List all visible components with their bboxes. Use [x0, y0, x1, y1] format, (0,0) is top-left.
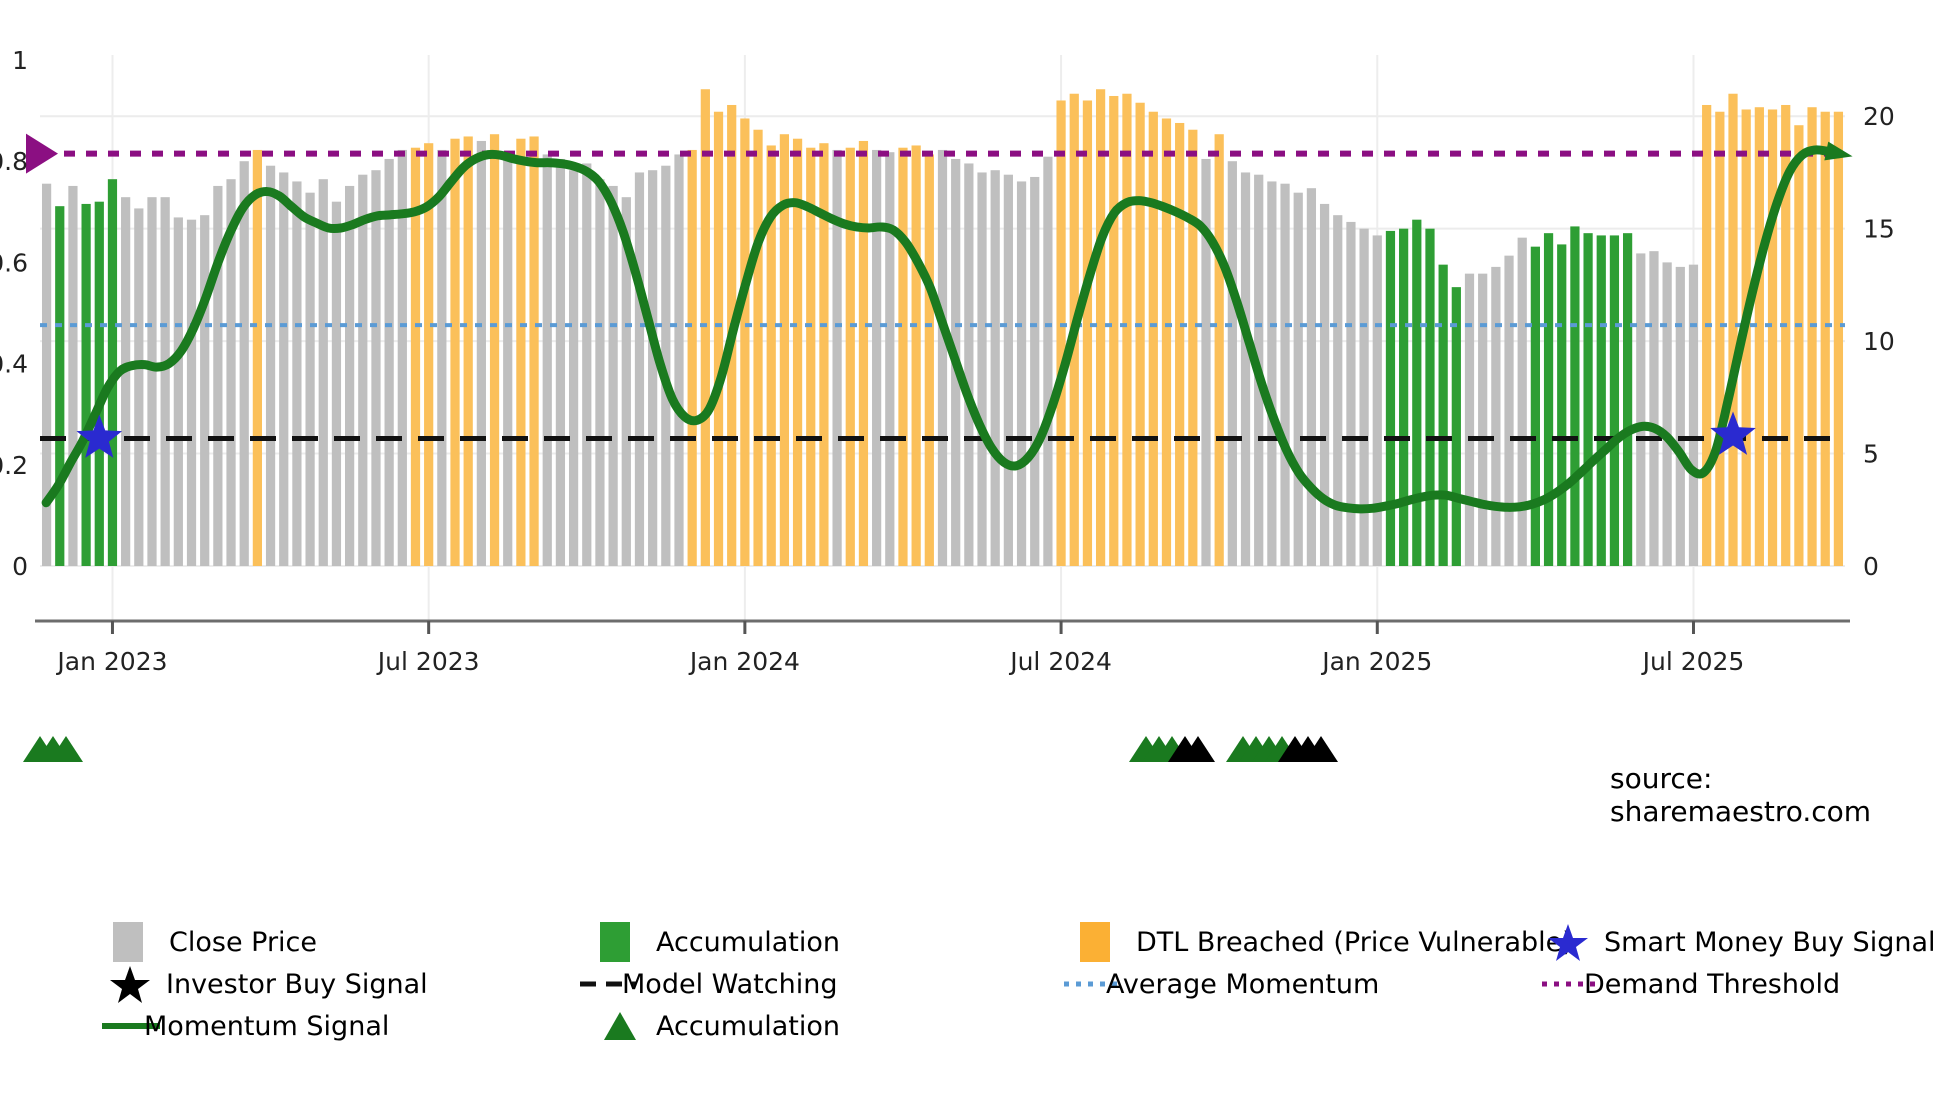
price-bar — [240, 161, 249, 566]
price-bar — [95, 202, 104, 566]
price-bar — [319, 179, 328, 566]
price-bar — [1623, 233, 1632, 566]
x-axis-tick: Jul 2024 — [1008, 647, 1112, 676]
price-bar — [1834, 112, 1843, 566]
price-bar — [977, 172, 986, 566]
legend-item-close-price[interactable]: Close Price — [113, 920, 317, 964]
price-bar — [147, 197, 156, 566]
price-bar — [1821, 112, 1830, 566]
price-bar — [1557, 244, 1566, 566]
price-bar — [253, 150, 262, 566]
price-bar — [385, 159, 394, 566]
legend-item-average-momentum[interactable]: Average Momentum — [1062, 962, 1379, 1006]
price-bar — [872, 150, 881, 566]
momentum-signal-line-icon — [100, 1004, 134, 1048]
price-bar — [582, 163, 591, 566]
price-bar — [1004, 175, 1013, 566]
source-attribution: source: sharemaestro.com — [1610, 762, 1960, 828]
price-bar — [1478, 274, 1487, 566]
legend-label-close-price: Close Price — [169, 927, 317, 958]
price-bar — [1610, 235, 1619, 566]
legend-label-smart-money-buy: Smart Money Buy Signal — [1604, 927, 1936, 958]
y-axis-left-tick: 1 — [12, 46, 28, 75]
price-bar — [1465, 274, 1474, 566]
price-bar — [859, 141, 868, 566]
price-bar — [1030, 177, 1039, 566]
price-bar — [1056, 100, 1065, 566]
price-bar — [332, 202, 341, 566]
price-bar — [1491, 267, 1500, 566]
legend-item-accumulation-bar[interactable]: Accumulation — [600, 920, 840, 964]
price-bar — [1320, 204, 1329, 566]
price-bar — [1201, 159, 1210, 566]
price-bar — [68, 186, 77, 566]
price-bar — [1241, 172, 1250, 566]
y-axis-right-tick: 15 — [1863, 215, 1895, 244]
legend-label-demand-threshold: Demand Threshold — [1584, 969, 1840, 1000]
price-bar — [516, 139, 525, 566]
price-bar — [174, 217, 183, 566]
price-bar — [1294, 193, 1303, 566]
price-bar — [1359, 229, 1368, 566]
investor-buy-star-icon — [110, 962, 144, 1006]
price-bar — [885, 152, 894, 566]
price-bar — [543, 154, 552, 566]
price-bar — [1807, 107, 1816, 566]
price-bar — [345, 186, 354, 566]
price-bar — [938, 150, 947, 566]
price-bar — [1636, 253, 1645, 566]
x-axis-tick: Jan 2025 — [1320, 647, 1432, 676]
price-bar — [635, 172, 644, 566]
price-bar — [569, 170, 578, 566]
accumulation-triangle-markers — [23, 736, 1338, 762]
price-bar — [898, 148, 907, 566]
price-bar — [701, 89, 710, 566]
x-axis-tick: Jan 2023 — [55, 647, 167, 676]
price-bar — [1768, 109, 1777, 566]
price-bar — [1702, 105, 1711, 566]
price-bar — [1373, 235, 1382, 566]
accumulation-swatch-icon — [600, 920, 634, 964]
price-bar — [1043, 157, 1052, 566]
price-bar — [1346, 222, 1355, 566]
price-bar — [832, 150, 841, 566]
price-bar — [450, 139, 459, 566]
price-bar — [1017, 181, 1026, 566]
x-axis-tick: Jul 2023 — [376, 647, 480, 676]
price-bar — [1597, 235, 1606, 566]
legend-label-model-watching: Model Watching — [622, 969, 837, 1000]
price-bar — [477, 141, 486, 566]
price-bar — [1412, 220, 1421, 566]
legend-item-investor-buy[interactable]: Investor Buy Signal — [110, 962, 428, 1006]
price-bar — [82, 204, 91, 566]
y-axis-left-tick: 0 — [12, 552, 28, 581]
price-bar — [1307, 188, 1316, 566]
price-bar — [490, 134, 499, 566]
legend-item-demand-threshold[interactable]: Demand Threshold — [1540, 962, 1840, 1006]
price-bar — [1136, 103, 1145, 566]
price-bar — [714, 112, 723, 566]
axes — [35, 621, 1850, 634]
price-bar — [1531, 247, 1540, 566]
price-bar — [55, 206, 64, 566]
legend-label-accumulation-bar: Accumulation — [656, 927, 840, 958]
legend-label-accumulation-marker: Accumulation — [656, 1011, 840, 1042]
price-bar — [1162, 118, 1171, 566]
price-bar — [819, 143, 828, 566]
demand-threshold-start-marker — [26, 134, 58, 174]
price-bar — [1228, 161, 1237, 566]
accumulation-triangle-icon — [600, 1004, 634, 1048]
price-bar — [964, 163, 973, 566]
price-bar — [1755, 107, 1764, 566]
y-axis-left-tick: 0.4 — [0, 350, 28, 379]
legend-row-2: Investor Buy Signal Model Watching Avera… — [0, 962, 1960, 1004]
average-momentum-dot-icon — [1062, 962, 1096, 1006]
price-bar — [1188, 130, 1197, 566]
price-bar — [358, 175, 367, 566]
price-bar — [134, 208, 143, 566]
price-bar — [371, 170, 380, 566]
price-bar — [1386, 231, 1395, 566]
demand-threshold-dot-icon — [1540, 962, 1574, 1006]
price-bar — [1267, 181, 1276, 566]
smart-money-star-icon — [1548, 920, 1582, 964]
y-axis-left-tick: 0.6 — [0, 248, 28, 277]
price-bar — [740, 118, 749, 566]
price-bar — [266, 166, 275, 566]
price-bar — [1452, 287, 1461, 566]
legend-item-momentum-signal[interactable]: Momentum Signal — [100, 1004, 389, 1048]
legend-label-average-momentum: Average Momentum — [1106, 969, 1379, 1000]
price-bar — [925, 154, 934, 566]
price-bar — [1544, 233, 1553, 566]
legend-item-accumulation-marker[interactable]: Accumulation — [600, 1004, 840, 1048]
legend-row-1: Close Price Accumulation DTL Breached (P… — [0, 920, 1960, 962]
price-bar — [1096, 89, 1105, 566]
y-axis-left-tick: 0.2 — [0, 451, 28, 480]
y-axis-right-tick: 10 — [1863, 327, 1895, 356]
price-bar — [279, 172, 288, 566]
chart-root: 00.20.40.60.8105101520Jan 2023Jul 2023Ja… — [0, 0, 1960, 1102]
price-bar — [121, 197, 130, 566]
y-axis-right-tick: 0 — [1863, 552, 1879, 581]
price-bar — [1676, 267, 1685, 566]
y-axis-left-tick: 0.8 — [0, 147, 28, 176]
legend-row-3: Momentum Signal Accumulation — [0, 1004, 1960, 1046]
price-bar — [595, 179, 604, 566]
legend-label-dtl-breached: DTL Breached (Price Vulnerable) — [1136, 927, 1573, 958]
price-bar — [1663, 262, 1672, 566]
price-bar — [200, 215, 209, 566]
price-bar — [753, 130, 762, 566]
legend-item-model-watching[interactable]: Model Watching — [578, 962, 837, 1006]
legend-item-smart-money-buy[interactable]: Smart Money Buy Signal — [1548, 920, 1936, 964]
legend-label-momentum-signal: Momentum Signal — [144, 1011, 389, 1042]
close-price-swatch-icon — [113, 920, 147, 964]
price-bar — [674, 154, 683, 566]
price-bar — [1149, 112, 1158, 566]
price-bar — [1280, 184, 1289, 566]
price-bar — [991, 170, 1000, 566]
price-bar — [1794, 125, 1803, 566]
legend-label-investor-buy: Investor Buy Signal — [166, 969, 428, 1000]
y-axis-right-tick: 5 — [1863, 440, 1879, 469]
model-watching-dash-icon — [578, 962, 612, 1006]
x-axis-tick: Jan 2024 — [688, 647, 800, 676]
price-bar — [1570, 226, 1579, 566]
x-axis-tick: Jul 2025 — [1641, 647, 1745, 676]
price-bar — [529, 136, 538, 566]
price-bar — [648, 170, 657, 566]
price-bar — [1083, 100, 1092, 566]
price-bar — [161, 197, 170, 566]
price-bar — [1122, 94, 1131, 566]
price-bar — [1518, 238, 1527, 566]
price-bar — [1583, 233, 1592, 566]
price-bar — [1715, 112, 1724, 566]
price-bar — [1504, 256, 1513, 566]
price-bar — [187, 220, 196, 566]
chart-legend: Close Price Accumulation DTL Breached (P… — [0, 920, 1960, 1060]
price-bar — [1215, 134, 1224, 566]
price-bar — [464, 136, 473, 566]
price-bar — [912, 145, 921, 566]
price-bar — [292, 181, 301, 566]
price-bar — [503, 157, 512, 566]
y-axis-right-tick: 20 — [1863, 102, 1895, 131]
price-bar — [1333, 215, 1342, 566]
price-bar — [556, 159, 565, 566]
price-bar — [305, 193, 314, 566]
legend-item-dtl-breached[interactable]: DTL Breached (Price Vulnerable) — [1080, 920, 1573, 964]
price-bar — [688, 150, 697, 566]
price-bar — [1425, 229, 1434, 566]
price-bar — [1439, 265, 1448, 566]
price-bar — [609, 186, 618, 566]
price-bar — [1109, 96, 1118, 566]
price-bar — [1175, 123, 1184, 566]
price-bar — [1728, 94, 1737, 566]
dtl-breached-swatch-icon — [1080, 920, 1114, 964]
price-bar — [846, 148, 855, 566]
price-bar — [1649, 251, 1658, 566]
price-bar — [1689, 265, 1698, 566]
price-bar — [1399, 229, 1408, 566]
price-bar — [42, 184, 51, 566]
price-bar — [437, 150, 446, 566]
